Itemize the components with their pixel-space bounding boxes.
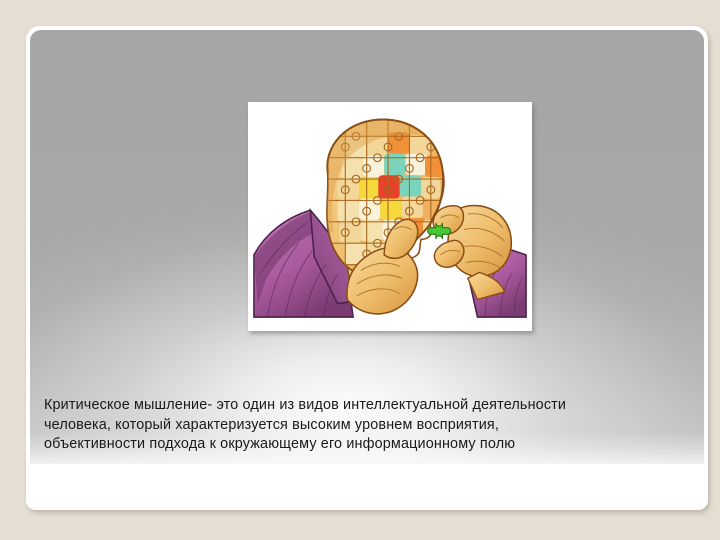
slide-footer-strip xyxy=(26,464,708,510)
body-line-3: объективности подхода к окружающему его … xyxy=(44,435,692,455)
body-line-2: человека, который характеризуется высоки… xyxy=(44,416,692,436)
slide-body-text[interactable]: Критическое мышление- это один из видов … xyxy=(44,396,692,455)
presentation-slide: Критическое мышление- это один из видов … xyxy=(0,0,720,540)
slide-picture-frame[interactable] xyxy=(248,102,532,331)
puzzle-head-icon xyxy=(252,106,528,327)
slide-panel: Критическое мышление- это один из видов … xyxy=(26,26,708,510)
slide-content-area: Критическое мышление- это один из видов … xyxy=(30,30,704,466)
body-line-1: Критическое мышление- это один из видов … xyxy=(44,396,692,416)
thinking-man-puzzle-head-illustration xyxy=(252,106,528,327)
